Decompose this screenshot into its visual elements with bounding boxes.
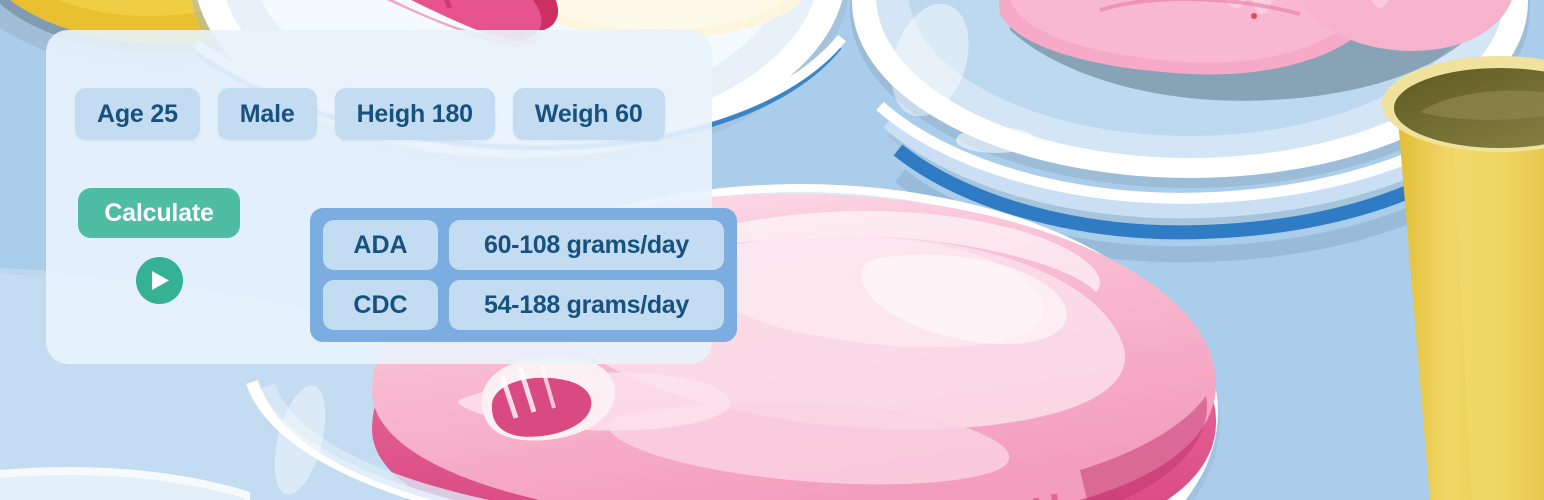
weight-input-chip[interactable]: Weigh 60 (513, 88, 665, 140)
input-chip-row: Age 25 Male Heigh 180 Weigh 60 (75, 88, 665, 140)
age-input-chip[interactable]: Age 25 (75, 88, 200, 140)
results-panel: ADA 60-108 grams/day CDC 54-188 grams/da… (310, 208, 737, 342)
result-source-ada: ADA (323, 220, 438, 270)
result-row-ada: ADA 60-108 grams/day (323, 220, 724, 270)
play-icon[interactable] (136, 257, 183, 304)
result-value-cdc: 54-188 grams/day (449, 280, 724, 330)
protein-calculator-panel: Age 25 Male Heigh 180 Weigh 60 Calculate… (46, 30, 712, 364)
result-source-cdc: CDC (323, 280, 438, 330)
action-column: Calculate (78, 188, 240, 304)
result-row-cdc: CDC 54-188 grams/day (323, 280, 724, 330)
calculate-button[interactable]: Calculate (78, 188, 240, 238)
result-value-ada: 60-108 grams/day (449, 220, 724, 270)
gender-input-chip[interactable]: Male (218, 88, 317, 140)
height-input-chip[interactable]: Heigh 180 (335, 88, 495, 140)
